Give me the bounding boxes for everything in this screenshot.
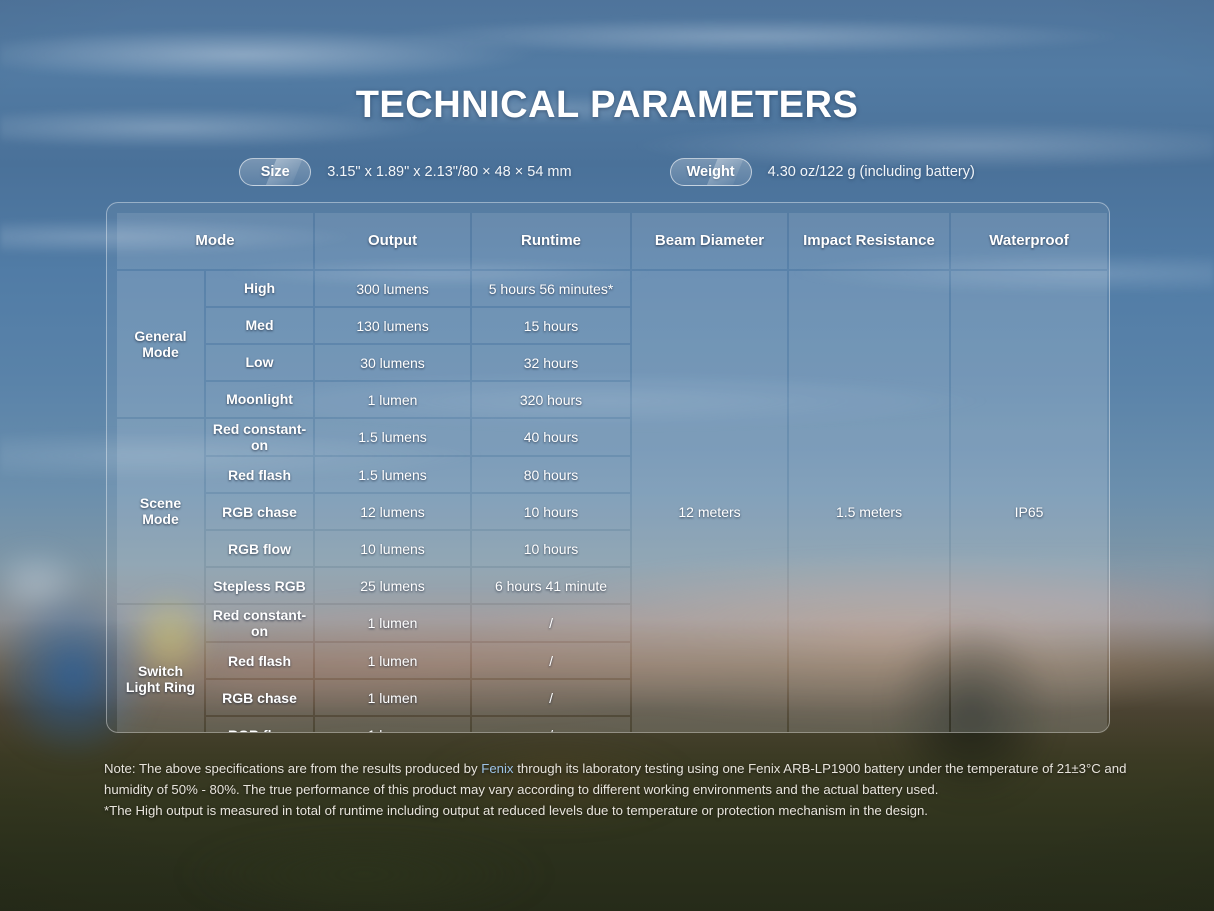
mode-sub-label: High [206,271,313,306]
runtime-value: 32 hours [472,345,630,380]
size-pill-label: Size [239,158,311,186]
table-row: General ModeHigh300 lumens5 hours 56 min… [117,271,1107,306]
runtime-value: / [472,717,630,733]
mode-sub-label: Low [206,345,313,380]
output-value: 1 lumen [315,605,470,641]
mode-sub-label: Stepless RGB [206,568,313,603]
page-title: TECHNICAL PARAMETERS [0,84,1214,127]
note-paragraph-main: Note: The above specifications are from … [104,758,1134,800]
runtime-value: 40 hours [472,419,630,455]
spec-size: Size 3.15" x 1.89" x 2.13"/80 × 48 × 54 … [239,158,571,186]
output-value: 1 lumen [315,717,470,733]
output-value: 1.5 lumens [315,419,470,455]
output-value: 30 lumens [315,345,470,380]
beam-diameter-value: 12 meters [632,271,787,733]
mode-sub-label: Red flash [206,643,313,678]
note-text-before-brand: Note: The above specifications are from … [104,761,481,776]
mode-group-label: Switch Light Ring [117,605,204,733]
mode-sub-label: Med [206,308,313,343]
spec-table: Mode Output Runtime Beam Diameter Impact… [115,211,1109,733]
runtime-value: 320 hours [472,382,630,417]
mode-sub-label: RGB chase [206,680,313,715]
waterproof-value: IP65 [951,271,1107,733]
output-value: 10 lumens [315,531,470,566]
weight-pill-label: Weight [670,158,752,186]
output-value: 1 lumen [315,680,470,715]
note-paragraph-footnote: *The High output is measured in total of… [104,800,1134,821]
header-waterproof: Waterproof [951,213,1107,269]
header-mode: Mode [117,213,313,269]
table-head: Mode Output Runtime Beam Diameter Impact… [117,213,1107,269]
output-value: 12 lumens [315,494,470,529]
mode-sub-label: Red constant-on [206,419,313,455]
table-header-row: Mode Output Runtime Beam Diameter Impact… [117,213,1107,269]
output-value: 130 lumens [315,308,470,343]
table-body: General ModeHigh300 lumens5 hours 56 min… [117,271,1107,733]
header-impact-resistance: Impact Resistance [789,213,949,269]
technical-parameters-table: Mode Output Runtime Beam Diameter Impact… [106,202,1110,733]
impact-resistance-value: 1.5 meters [789,271,949,733]
note-brand-name: Fenix [481,761,513,776]
runtime-value: 80 hours [472,457,630,492]
mode-sub-label: RGB flow [206,531,313,566]
output-value: 1 lumen [315,382,470,417]
mode-sub-label: RGB chase [206,494,313,529]
header-beam-diameter: Beam Diameter [632,213,787,269]
runtime-value: 10 hours [472,531,630,566]
page-root: TECHNICAL PARAMETERS Size 3.15" x 1.89" … [0,0,1214,911]
output-value: 1 lumen [315,643,470,678]
runtime-value: / [472,643,630,678]
spec-weight: Weight 4.30 oz/122 g (including battery) [670,158,975,186]
mode-sub-label: RGB flow [206,717,313,733]
note-block: Note: The above specifications are from … [104,758,1134,821]
runtime-value: 10 hours [472,494,630,529]
mode-sub-label: Red flash [206,457,313,492]
header-runtime: Runtime [472,213,630,269]
mode-group-label: Scene Mode [117,419,204,603]
spec-summary-row: Size 3.15" x 1.89" x 2.13"/80 × 48 × 54 … [0,156,1214,188]
runtime-value: / [472,680,630,715]
content-layer: TECHNICAL PARAMETERS Size 3.15" x 1.89" … [0,0,1214,911]
header-output: Output [315,213,470,269]
size-value: 3.15" x 1.89" x 2.13"/80 × 48 × 54 mm [327,164,571,180]
runtime-value: 5 hours 56 minutes* [472,271,630,306]
mode-sub-label: Moonlight [206,382,313,417]
runtime-value: / [472,605,630,641]
mode-group-label: General Mode [117,271,204,417]
output-value: 25 lumens [315,568,470,603]
runtime-value: 6 hours 41 minute [472,568,630,603]
runtime-value: 15 hours [472,308,630,343]
mode-sub-label: Red constant-on [206,605,313,641]
weight-value: 4.30 oz/122 g (including battery) [768,164,975,180]
output-value: 300 lumens [315,271,470,306]
output-value: 1.5 lumens [315,457,470,492]
